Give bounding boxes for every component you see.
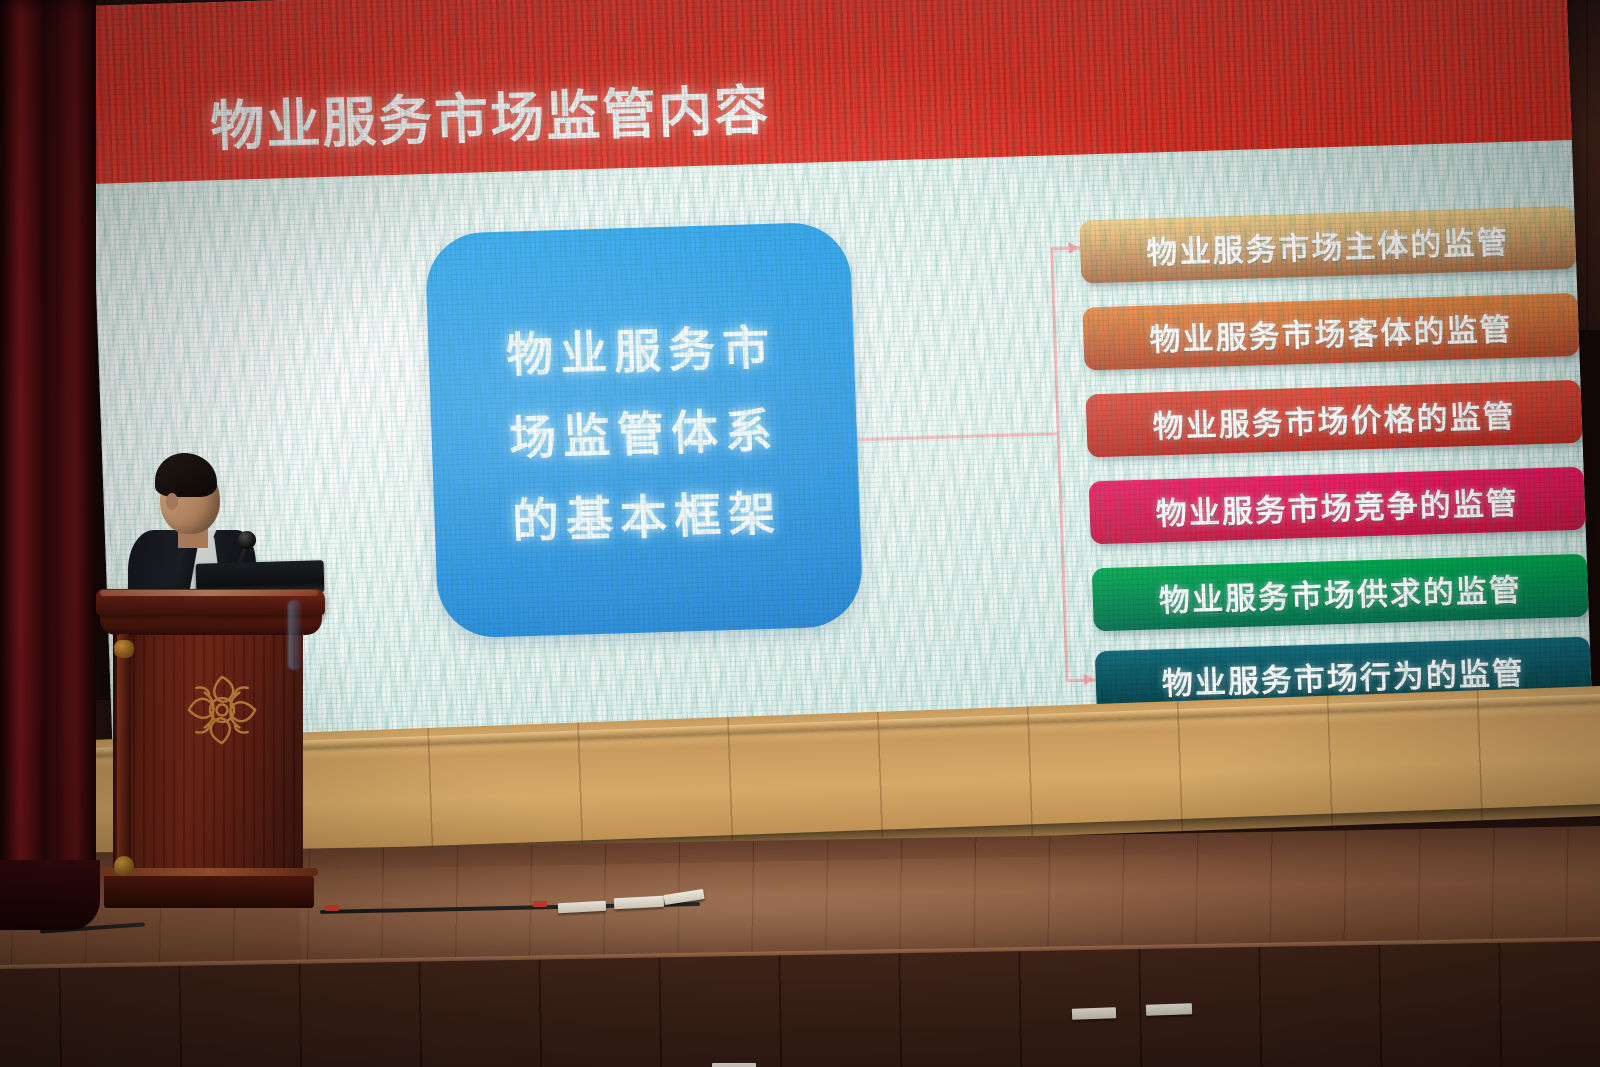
- center-box-line-3: 的基本框架: [511, 475, 783, 552]
- microphone-icon: [238, 531, 256, 549]
- floor-card: [1146, 1003, 1192, 1016]
- center-box-line-2: 场监管体系: [508, 392, 780, 469]
- center-box-line-1: 物业服务市: [505, 309, 777, 386]
- floor-card: [1072, 1007, 1116, 1020]
- monitoring-bar-label: 物业服务市场价格的监管: [1152, 391, 1516, 447]
- cable-tape-marker: [533, 901, 547, 907]
- lectern-column-foot: [114, 856, 134, 876]
- presentation-photo-scene: 物业服务市场监管内容 物业服务市 场监管体系 的基本框架 物业服务市场主体的监管…: [0, 0, 1600, 1067]
- center-concept-box: 物业服务市 场监管体系 的基本框架: [424, 221, 863, 638]
- stage-curtain-left: [0, 0, 96, 900]
- lectern-top-highlight: [100, 590, 318, 596]
- slide-title: 物业服务市场监管内容: [209, 66, 772, 162]
- monitoring-bar-label: 物业服务市场客体的监管: [1149, 304, 1513, 360]
- lectern-edge-light-reflection: [288, 600, 302, 670]
- monitoring-bar-label: 物业服务市场竞争的监管: [1155, 478, 1519, 534]
- monitoring-bar-label: 物业服务市场供求的监管: [1158, 565, 1522, 621]
- lectern-left-column: [117, 634, 131, 876]
- presenter-ear: [166, 493, 178, 510]
- arrow-right-icon: [1084, 673, 1095, 685]
- cable-tape-marker: [325, 905, 339, 911]
- gold-arabesque-medallion-icon: [176, 662, 268, 758]
- floor-card: [712, 1063, 756, 1067]
- arrow-right-icon: [1068, 242, 1079, 254]
- lectern-base: [104, 872, 314, 908]
- slide-surface: 物业服务市场监管内容 物业服务市 场监管体系 的基本框架 物业服务市场主体的监管…: [86, 0, 1593, 766]
- lectern-column-capital: [114, 640, 134, 658]
- led-display-wall: 物业服务市场监管内容 物业服务市 场监管体系 的基本框架 物业服务市场主体的监管…: [86, 0, 1593, 766]
- stage-curtain-hem: [0, 860, 100, 930]
- monitoring-bar-label: 物业服务市场主体的监管: [1146, 217, 1510, 273]
